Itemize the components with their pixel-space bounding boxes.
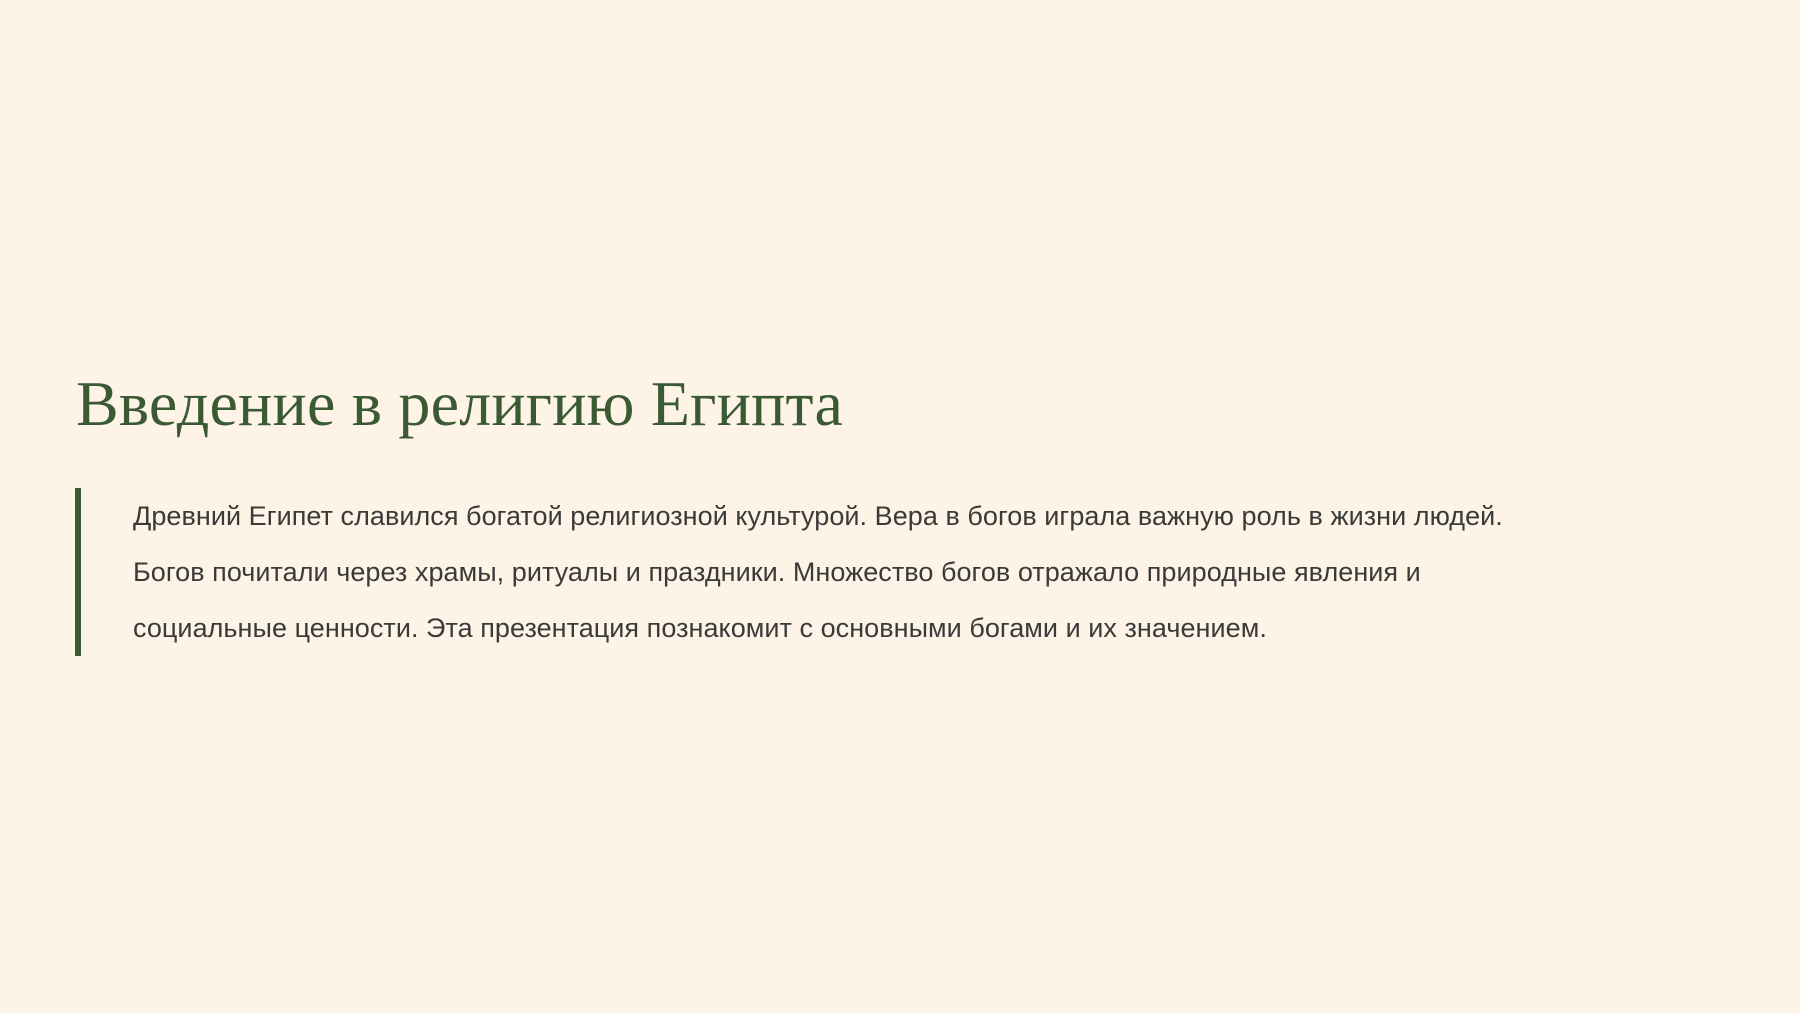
body-paragraph: Древний Египет славился богатой религиоз…: [81, 488, 1725, 656]
body-line: Богов почитали через храмы, ритуалы и пр…: [133, 544, 1725, 600]
body-line: социальные ценности. Эта презентация поз…: [133, 600, 1725, 656]
slide-content: Введение в религию Египта Древний Египет…: [0, 0, 1800, 1013]
body-line: Древний Египет славился богатой религиоз…: [133, 488, 1725, 544]
slide: Введение в религию Египта Древний Египет…: [0, 0, 1800, 1013]
page-title: Введение в религию Египта: [76, 368, 1716, 440]
body-quote-block: Древний Египет славился богатой религиоз…: [75, 488, 1725, 656]
